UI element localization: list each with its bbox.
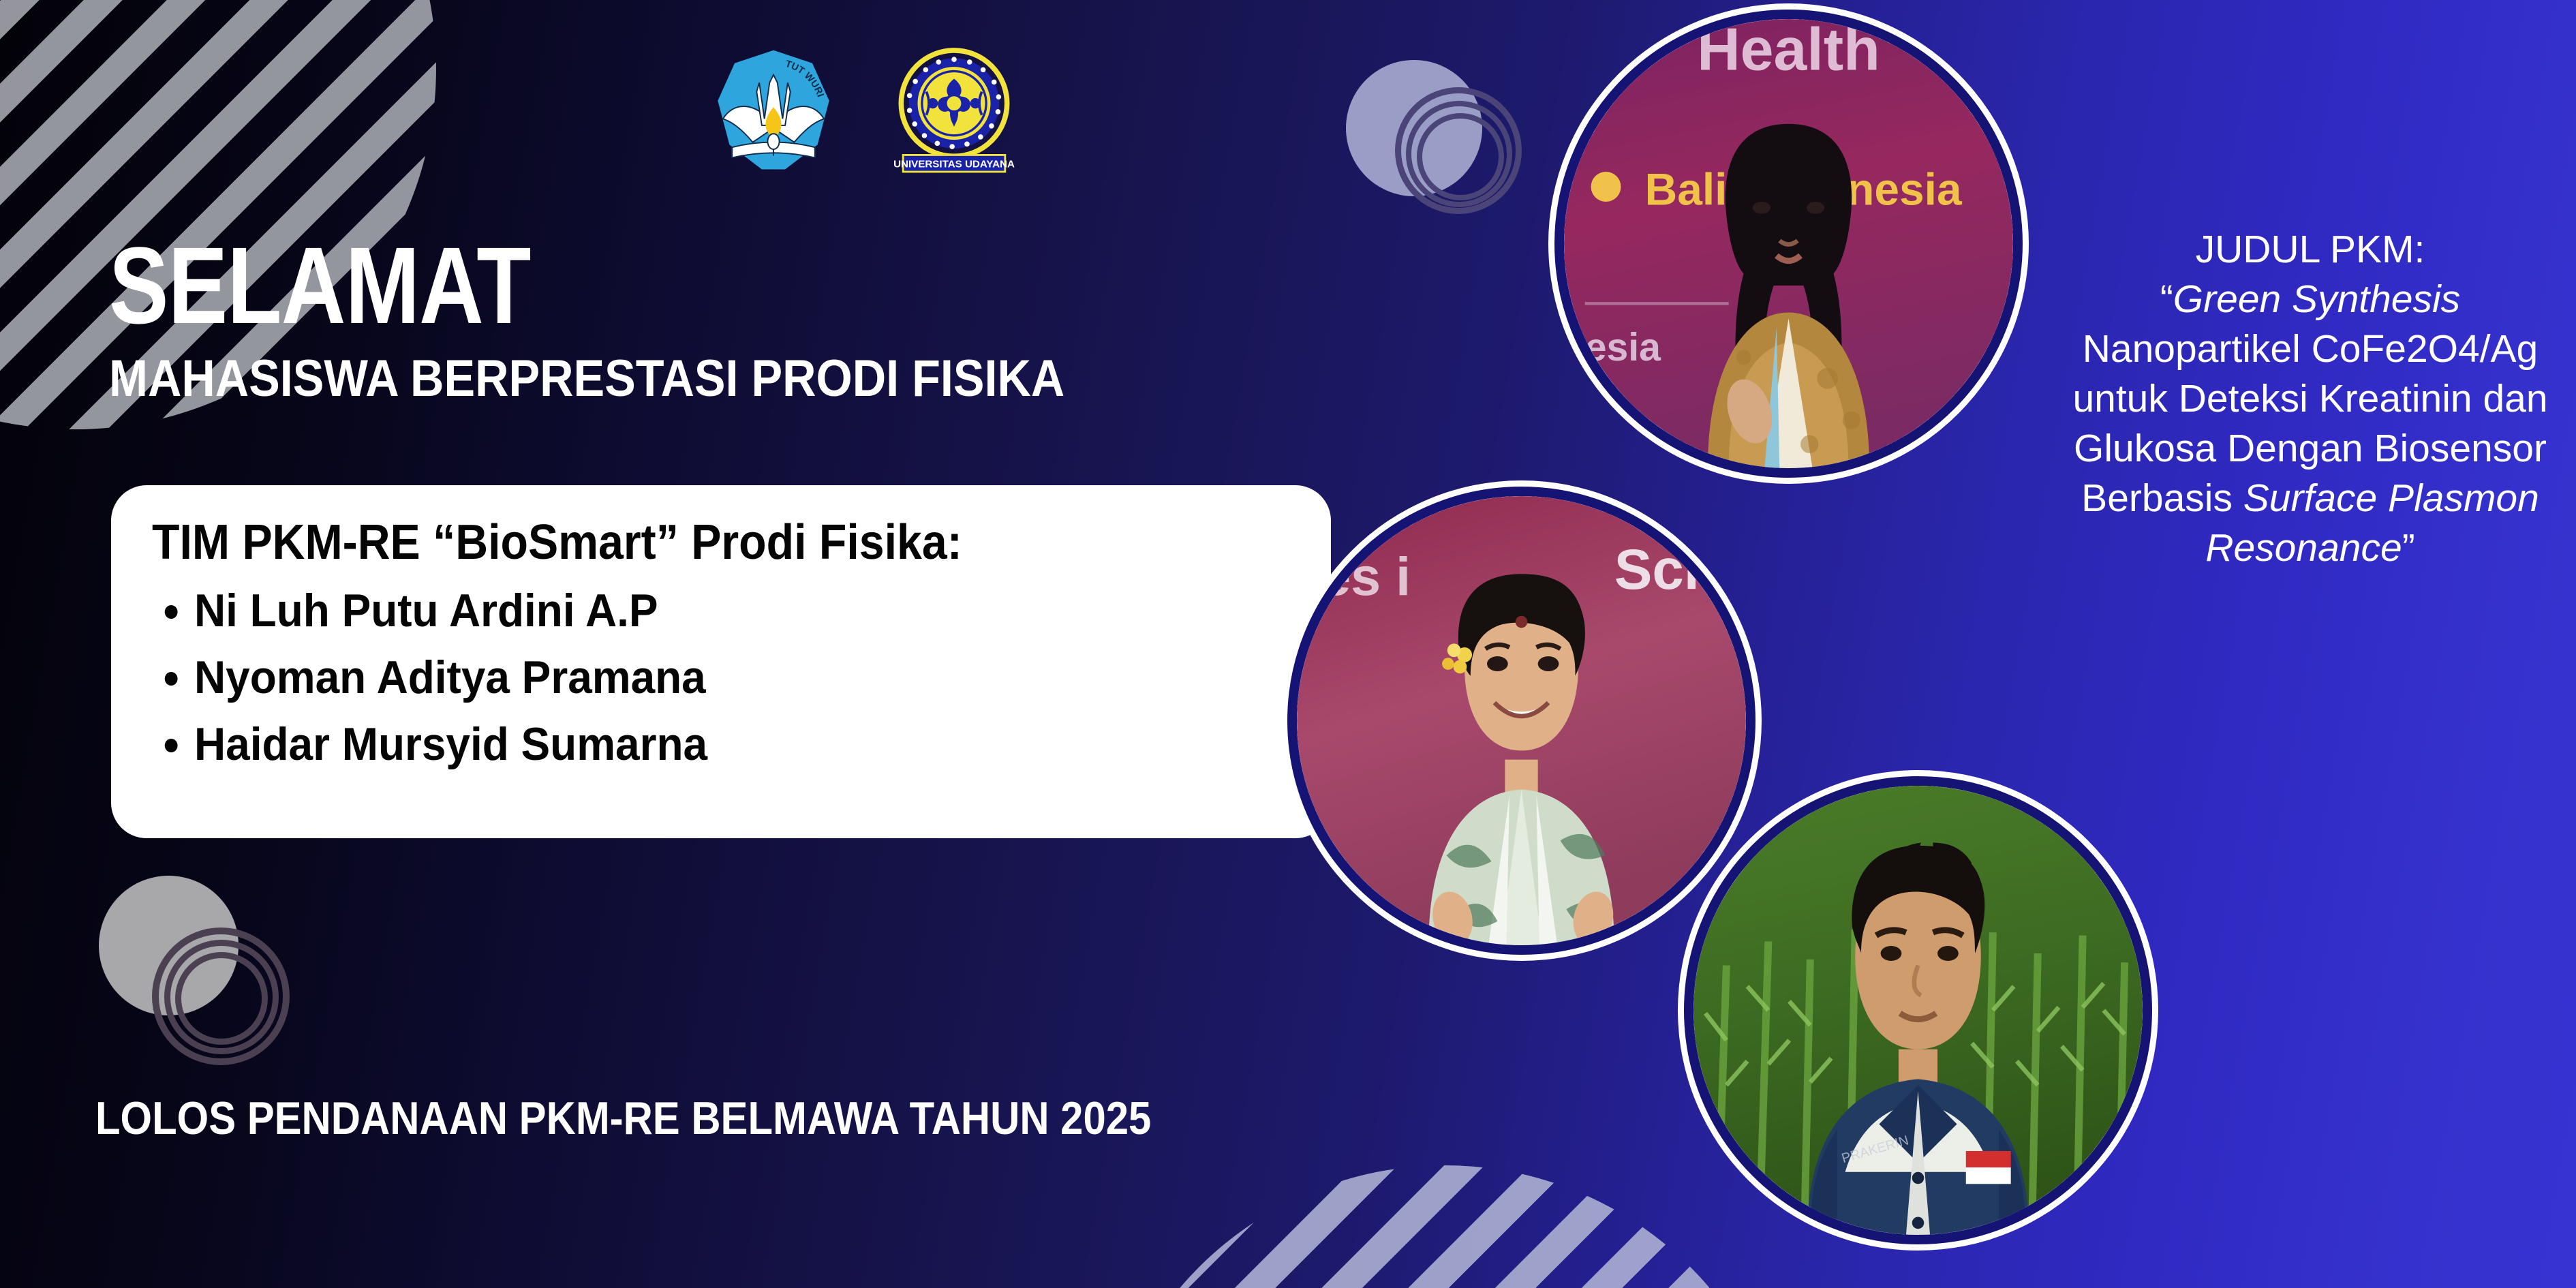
ring-outline-small (1417, 113, 1504, 200)
photo-image-ardini: Health Bali, Indonesia esia (1564, 19, 2013, 468)
list-item: Ni Luh Putu Ardini A.P (194, 587, 1263, 634)
close-quote: ” (2402, 526, 2415, 570)
striped-disc-bottom-decoration (1097, 1165, 1792, 1288)
pkm-line-2: Nanopartikel (2083, 327, 2301, 371)
svg-text:Sci: Sci (1614, 537, 1700, 601)
photo-ring-border: es i Sci (1287, 487, 1755, 955)
udayana-caption: UNIVERSITAS UDAYANA (893, 158, 1015, 170)
photo-haidar: PRAKERIN (1678, 770, 2158, 1251)
headline-block: SELAMAT MAHASISWA BERPRESTASI PRODI FISI… (109, 235, 1472, 405)
poster-canvas: TUT WURI HANDAYANI (0, 0, 2576, 1288)
footer-banner-text: LOLOS PENDANAAN PKM-RE BELMAWA TAHUN 202… (95, 1095, 1151, 1141)
team-card-title: TIM PKM-RE “BioSmart” Prodi Fisika: (152, 518, 1237, 567)
stripe-pattern (1097, 1165, 1792, 1288)
list-item: Nyoman Aditya Pramana (194, 654, 1263, 701)
photo-ardini: Health Bali, Indonesia esia (1548, 3, 2029, 484)
photo-ring-border: Health Bali, Indonesia esia (1554, 10, 2023, 478)
pkm-line-1: Green Synthesis (2173, 277, 2460, 321)
pkm-line-7: Surface Plasmon (2243, 476, 2539, 520)
photo-ring-border: PRAKERIN (1684, 776, 2152, 1244)
pkm-line-5: Glukosa Dengan (2074, 427, 2363, 470)
logo-row: TUT WURI HANDAYANI (709, 46, 1015, 176)
team-card: TIM PKM-RE “BioSmart” Prodi Fisika: Ni L… (111, 485, 1331, 838)
pkm-title-body: “Green Synthesis Nanopartikel CoFe2O4/Ag… (2065, 275, 2556, 573)
pkm-title-label: JUDUL PKM: (2065, 225, 2556, 275)
photo-image-haidar: PRAKERIN (1693, 786, 2143, 1235)
svg-text:Health: Health (1697, 19, 1880, 83)
svg-text:esia: esia (1585, 326, 1661, 369)
list-item: Haidar Mursyid Sumarna (194, 721, 1263, 767)
team-member-list: Ni Luh Putu Ardini A.P Nyoman Aditya Pra… (152, 587, 1331, 767)
pkm-line-4: Deteksi Kreatinin dan (2179, 377, 2548, 420)
open-quote: “ (2160, 277, 2173, 321)
ring-outline-small (175, 952, 268, 1045)
tut-wuri-handayani-logo: TUT WURI HANDAYANI (709, 46, 838, 176)
ring-cluster-bottom-left-decoration (99, 876, 296, 1073)
svg-text:es i: es i (1321, 546, 1411, 607)
page-subtitle: MAHASISWA BERPRESTASI PRODI FISIKA (109, 353, 1336, 405)
photo-image-pramana: es i Sci (1297, 496, 1746, 945)
photo-pramana: es i Sci (1281, 480, 1762, 961)
page-title: SELAMAT (109, 235, 1227, 335)
universitas-udayana-logo: UNIVERSITAS UDAYANA (893, 46, 1015, 176)
ring-cluster-top-right-decoration (1346, 60, 1509, 224)
pkm-line-8: Resonance (2205, 526, 2402, 570)
pkm-title-block: JUDUL PKM: “Green Synthesis Nanopartikel… (2065, 225, 2556, 573)
